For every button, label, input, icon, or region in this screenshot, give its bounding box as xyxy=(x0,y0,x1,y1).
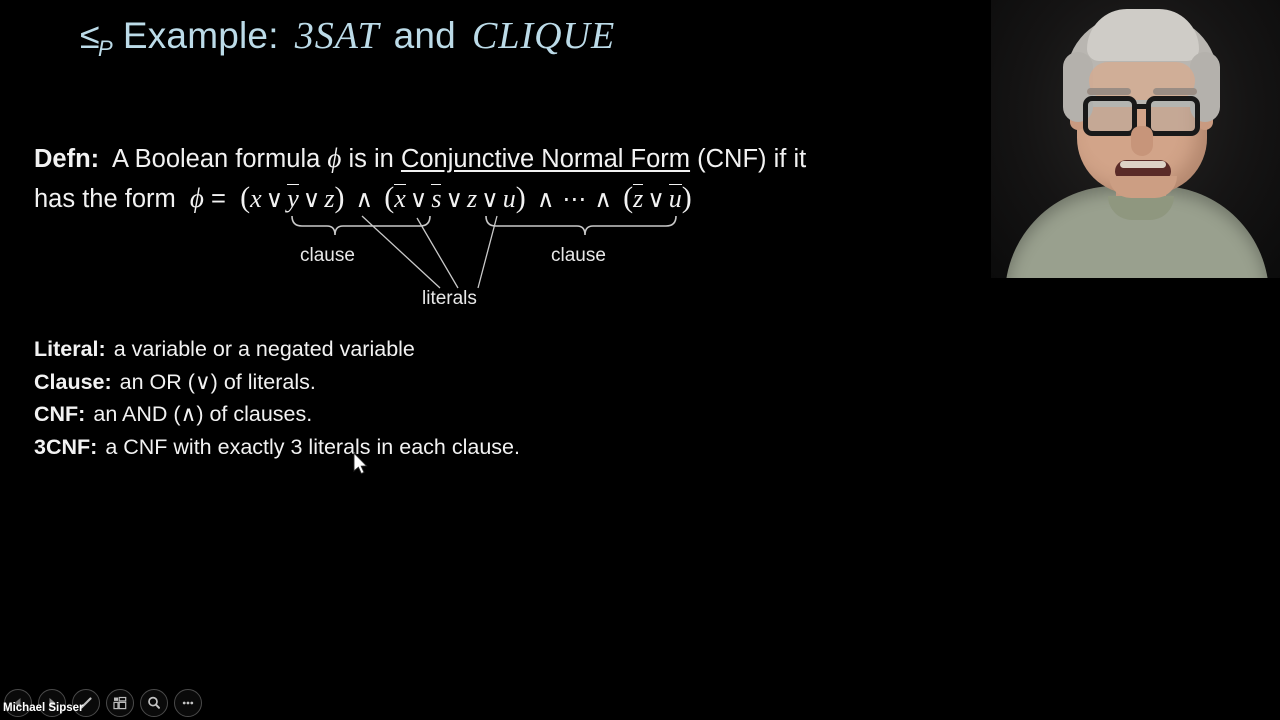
presentation-screen: ≤PExample:3SATandCLIQUE Defn: A Boolean … xyxy=(0,0,1280,720)
formula-ellipsis: ⋯ xyxy=(558,186,590,213)
definition-row-literal: Literal:a variable or a negated variable xyxy=(34,333,520,366)
definition-line-1: Defn: A Boolean formula ϕ is in Conjunct… xyxy=(34,143,806,174)
more-options-icon xyxy=(180,695,196,711)
clause1-or-2: ∨ xyxy=(299,186,325,213)
clause2-literal-z: z xyxy=(467,184,477,213)
defn-label: Defn: xyxy=(34,145,99,173)
presenter-teeth xyxy=(1120,161,1166,168)
definition-row-cnf: CNF:an AND (∧) of clauses. xyxy=(34,398,520,431)
clause2-or-1: ∨ xyxy=(406,186,432,213)
presenter-name-label: Michael Sipser xyxy=(3,702,84,714)
formula-equals: = xyxy=(211,185,226,213)
title-term-3sat: 3SAT xyxy=(295,15,380,57)
title-term-clique: CLIQUE xyxy=(472,15,615,57)
presenter-eyebrow-right xyxy=(1153,88,1197,95)
clause1-literal-y-negated: y xyxy=(287,184,299,212)
formula-clause-2: (x∨s∨z∨u) xyxy=(384,185,526,213)
leader-line-literal-y xyxy=(362,216,440,288)
defn-line1-after: (CNF) if it xyxy=(697,145,806,173)
clause1-close-paren: ) xyxy=(334,181,344,214)
title-and-word: and xyxy=(394,15,456,56)
definitions-list: Literal:a variable or a negated variable… xyxy=(34,333,520,463)
definition-desc-literal: a variable or a negated variable xyxy=(114,337,415,361)
clause1-literal-x: x xyxy=(250,184,262,213)
presenter-eyeglass-bridge xyxy=(1135,104,1149,109)
formula-clause-1: (x∨y∨z) xyxy=(240,185,344,213)
defn-line1-mid: is in xyxy=(349,145,394,173)
clause3-literal-z-negated: z xyxy=(633,184,643,212)
clause3-or-1: ∨ xyxy=(643,186,669,213)
mouse-cursor xyxy=(353,452,371,478)
clause2-literal-u: u xyxy=(503,184,516,213)
title-example-word: Example: xyxy=(123,15,279,56)
clause2-literal-x-negated: x xyxy=(394,184,406,212)
presenter-hair-top xyxy=(1087,9,1199,61)
phi-symbol-1: ϕ xyxy=(327,143,341,173)
annotation-label-clause-1: clause xyxy=(300,245,355,267)
formula-and-2: ∧ xyxy=(533,186,559,213)
definition-term-clause: Clause: xyxy=(34,370,112,394)
presenter-nose xyxy=(1131,126,1153,156)
leader-line-literal-x xyxy=(478,216,497,288)
clause1-literal-z: z xyxy=(324,184,334,213)
defn-line1-before: A Boolean formula xyxy=(112,145,320,173)
leader-line-literal-z xyxy=(417,218,458,288)
clause2-or-2: ∨ xyxy=(441,186,467,213)
title-subscript-p: P xyxy=(98,36,113,61)
presenter-eyeglass-left xyxy=(1083,96,1137,136)
definition-term-literal: Literal: xyxy=(34,337,106,361)
defn-line2-lead: has the form xyxy=(34,185,176,213)
underbrace-clause-2 xyxy=(486,216,676,235)
presenter-eyebrow-left xyxy=(1087,88,1131,95)
clause2-close-paren: ) xyxy=(516,181,526,214)
clause3-close-paren: ) xyxy=(682,181,692,214)
definition-desc-clause: an OR (∨) of literals. xyxy=(120,370,316,394)
formula-clause-3: (z∨u) xyxy=(623,185,692,213)
zoom-tool-button[interactable] xyxy=(140,689,168,717)
underbrace-clause-1 xyxy=(292,216,430,235)
clause2-open-paren: ( xyxy=(384,181,394,214)
less-than-or-equal-symbol: ≤ xyxy=(80,15,100,56)
slides-overview-button[interactable] xyxy=(106,689,134,717)
clause2-or-3: ∨ xyxy=(477,186,503,213)
annotation-label-clause-2: clause xyxy=(551,245,606,267)
formula-and-1: ∧ xyxy=(352,186,378,213)
definition-term-3cnf: 3CNF: xyxy=(34,435,97,459)
more-options-button[interactable] xyxy=(174,689,202,717)
slides-grid-icon xyxy=(112,695,128,711)
presenter-eyeglass-right xyxy=(1146,96,1200,136)
definition-row-clause: Clause:an OR (∨) of literals. xyxy=(34,366,520,399)
clause3-literal-u-negated: u xyxy=(669,184,682,212)
definition-term-cnf: CNF: xyxy=(34,402,85,426)
clause3-open-paren: ( xyxy=(623,181,633,214)
clause1-open-paren: ( xyxy=(240,181,250,214)
presenter-webcam-panel[interactable] xyxy=(988,0,1280,281)
definition-row-3cnf: 3CNF:a CNF with exactly 3 literals in ea… xyxy=(34,431,520,464)
annotation-label-literals: literals xyxy=(422,288,477,310)
clause1-or-1: ∨ xyxy=(262,186,288,213)
clause2-literal-s-negated: s xyxy=(431,184,441,212)
definition-desc-3cnf: a CNF with exactly 3 literals in each cl… xyxy=(105,435,520,459)
formula-and-3: ∧ xyxy=(590,186,616,213)
definition-desc-cnf: an AND (∧) of clauses. xyxy=(93,402,312,426)
phi-symbol-2: ϕ xyxy=(190,183,204,213)
slide-title: ≤PExample:3SATandCLIQUE xyxy=(80,14,615,62)
definition-line-2-formula: has the form ϕ = (x∨y∨z) ∧ (x∨s∨z∨u) ∧⋯∧… xyxy=(34,181,692,215)
defn-cnf-underlined: Conjunctive Normal Form xyxy=(401,145,690,173)
magnifier-icon xyxy=(146,695,162,711)
